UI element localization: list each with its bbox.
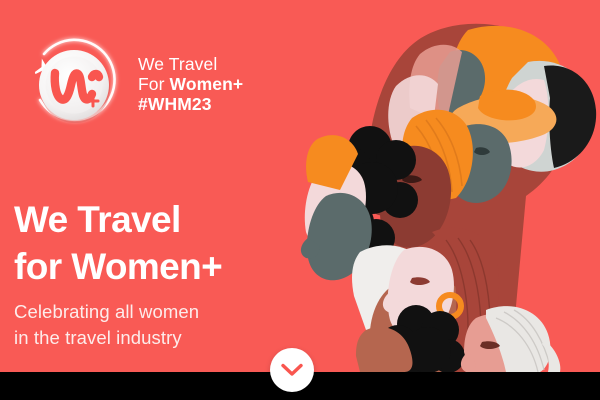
hero-banner: We Travel For Women+ #WHM23 We Travel fo…	[0, 0, 600, 400]
logo-line-1-text: We Travel	[138, 54, 217, 74]
logo-line-2: For Women+	[138, 74, 243, 94]
headline-line-1: We Travel	[14, 197, 222, 244]
page-title: We Travel for Women+	[14, 197, 222, 291]
women-profiles-collage	[300, 0, 600, 372]
logo-line-2-bold: Women+	[170, 74, 244, 94]
logo-line-3: #WHM23	[138, 94, 243, 114]
logo-wordmark: We Travel For Women+ #WHM23	[138, 54, 243, 115]
logo-line-1: We Travel	[138, 54, 243, 74]
subhead-line-2: in the travel industry	[14, 325, 199, 351]
logo-line-2-light: For	[138, 74, 170, 94]
logo-lockup[interactable]: We Travel For Women+ #WHM23	[14, 28, 294, 140]
we-travel-for-women-logo[interactable]	[14, 28, 134, 140]
headline-line-2: for Women+	[14, 244, 222, 291]
subhead-line-1: Celebrating all women	[14, 299, 199, 325]
chevron-down-icon	[281, 363, 303, 377]
page-subtitle: Celebrating all women in the travel indu…	[14, 299, 199, 352]
scroll-down-button[interactable]	[270, 348, 314, 392]
logo-hashtag: #WHM23	[138, 94, 212, 114]
